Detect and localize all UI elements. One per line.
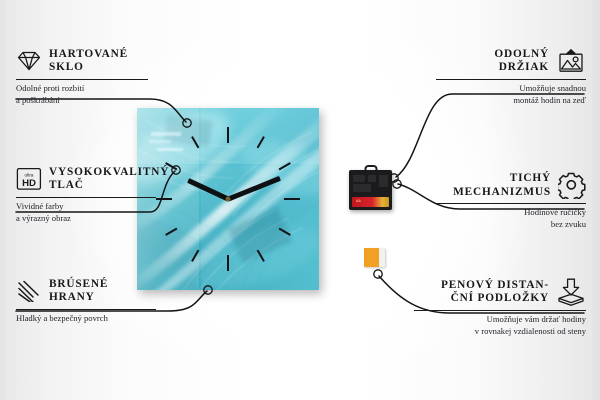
feature-header: BRÚSENÉ HRANY [16,278,164,305]
connector-endpoint-dot [204,286,212,294]
feature-divider [16,79,148,80]
feature-title: TICHÝ MECHANIZMUS [453,172,551,199]
feature-title-line: ČNÍ PODLOŽKY [441,292,549,305]
svg-text:HD: HD [22,178,36,189]
feature-title-line: ODOLNÝ [494,48,549,61]
feature-title-line: TLAČ [49,179,169,192]
feature-description: Vividné farby a výrazný obraz [16,201,166,225]
feature-title-line: SKLO [49,61,128,74]
feature-durable-hanger: ODOLNÝ DRŽIAK Umožňuje snadnou montáž ho… [436,48,586,106]
polished-edges-icon [16,280,42,302]
feature-description: Umožňuje snadnou montáž hodin na zeď [436,83,586,107]
feature-title-line: HARTOVANÉ [49,48,128,61]
feature-header: ultra HD VYSOKOKVALITNÝ TLAČ [16,166,166,193]
feature-description: Umožňuje vám držať hodiny v rovnakej vzd… [414,314,586,338]
feature-title: PENOVÝ DISTAN- ČNÍ PODLOŽKY [441,279,549,306]
feature-title: BRÚSENÉ HRANY [49,278,108,305]
feature-header: TICHÝ MECHANIZMUS [436,172,586,199]
feature-header: PENOVÝ DISTAN- ČNÍ PODLOŽKY [414,278,586,306]
feature-header: ODOLNÝ DRŽIAK [436,48,586,75]
feature-title: HARTOVANÉ SKLO [49,48,128,75]
feature-divider [436,79,586,80]
feature-title-line: HRANY [49,291,108,304]
connector-endpoint-dot [172,166,180,174]
feature-divider [414,310,586,311]
feature-title: ODOLNÝ DRŽIAK [494,48,549,75]
diamond-icon [16,50,42,72]
feature-title-line: MECHANIZMUS [453,186,551,199]
gear-icon [558,172,586,199]
press-layers-icon [556,278,586,306]
feature-title-line: BRÚSENÉ [49,278,108,291]
connector-hanger [396,94,584,177]
feature-silent-mechanism: TICHÝ MECHANIZMUS Hodinové ručičky bez z… [436,172,586,231]
feature-description: Hladký a bezpečný povrch [16,313,164,325]
picture-frame-icon [556,48,586,74]
feature-divider [436,203,586,204]
feature-header: HARTOVANÉ SKLO [16,48,161,75]
connector-endpoint-dot [374,270,382,278]
feature-high-quality-print: ultra HD VYSOKOKVALITNÝ TLAČ Vividné far… [16,166,166,224]
feature-hardened-glass: HARTOVANÉ SKLO Odolné proti rozbití a po… [16,48,161,106]
feature-divider [16,197,156,198]
feature-foam-spacers: PENOVÝ DISTAN- ČNÍ PODLOŽKY Umožňuje vám… [414,278,586,338]
product-infographic: AA [0,0,600,400]
feature-description: Odolné proti rozbití a poškrábání [16,83,161,107]
feature-title-line: DRŽIAK [494,61,549,74]
feature-title-line: PENOVÝ DISTAN- [441,279,549,292]
connector-endpoint-dot [183,119,191,127]
feature-title: VYSOKOKVALITNÝ TLAČ [49,166,169,193]
feature-divider [16,309,156,310]
feature-title-line: VYSOKOKVALITNÝ [49,166,169,179]
feature-polished-edges: BRÚSENÉ HRANY Hladký a bezpečný povrch [16,278,164,325]
ultra-hd-icon: ultra HD [16,167,42,191]
svg-text:ultra: ultra [25,173,34,178]
feature-title-line: TICHÝ [453,172,551,185]
feature-description: Hodinové ručičky bez zvuku [436,207,586,231]
